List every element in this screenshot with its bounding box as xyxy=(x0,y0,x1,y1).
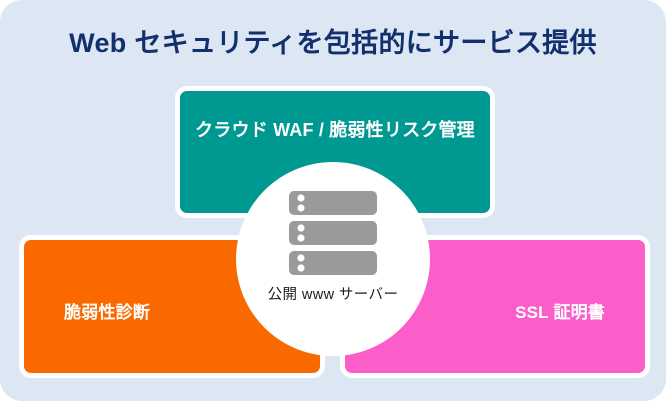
server-icon xyxy=(287,190,379,276)
page-title: Web セキュリティを包括的にサービス提供 xyxy=(0,26,666,60)
panel-ssl-certificate-label: SSL 証明書 xyxy=(515,298,605,323)
diagram-canvas: Web セキュリティを包括的にサービス提供 クラウド WAF / 脆弱性リスク管… xyxy=(0,0,666,401)
center-server-label: 公開 www サーバー xyxy=(268,283,399,304)
panel-cloud-waf-label: クラウド WAF / 脆弱性リスク管理 xyxy=(195,116,475,142)
center-server-node[interactable]: 公開 www サーバー xyxy=(236,162,430,356)
panel-vulnerability-scan-label: 脆弱性診断 xyxy=(64,298,150,323)
